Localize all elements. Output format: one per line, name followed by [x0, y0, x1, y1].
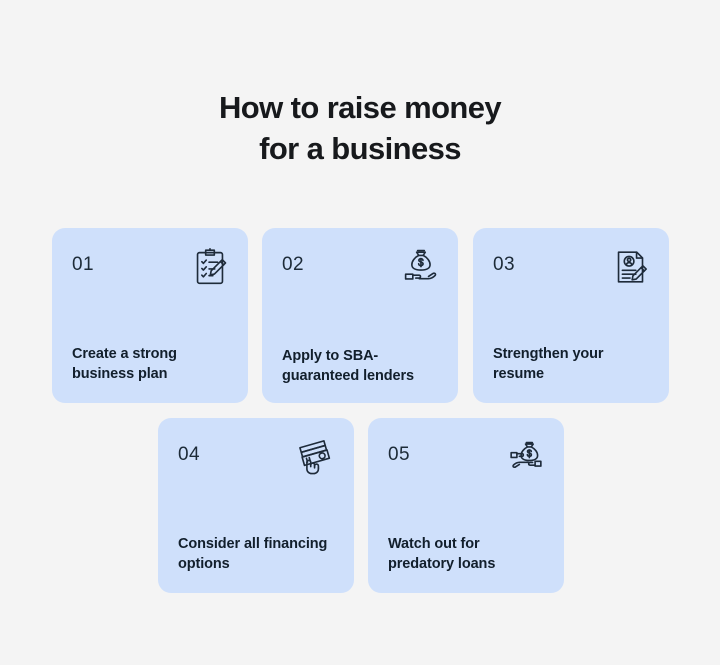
step-card-02[interactable]: 02 Apply to SBA-guaranteed lenders: [262, 228, 458, 403]
step-number-03: 03: [493, 254, 515, 276]
step-label-03: Strengthen your resume: [493, 344, 653, 385]
step-card-03[interactable]: 03 Strengthen your resume: [473, 228, 669, 403]
resume-document-pencil-icon: [608, 244, 654, 290]
step-card-05[interactable]: 05 Watch out for predatory loans: [368, 418, 564, 593]
money-bag-exchange-hands-icon: [503, 434, 549, 480]
hand-holding-cash-icon: [293, 434, 339, 480]
step-number-02: 02: [282, 254, 304, 276]
page-title-line-2: for a business: [0, 129, 720, 170]
step-label-04: Consider all financing options: [178, 534, 338, 575]
step-label-01: Create a strong business plan: [72, 344, 232, 385]
page-title: How to raise money for a business: [0, 88, 720, 170]
clipboard-checklist-pencil-icon: [187, 244, 233, 290]
step-card-04[interactable]: 04 Consider all financing options: [158, 418, 354, 593]
step-label-02: Apply to SBA-guaranteed lenders: [282, 346, 442, 387]
step-card-01[interactable]: 01 Create a strong business plan: [52, 228, 248, 403]
page-title-line-1: How to raise money: [0, 88, 720, 129]
step-label-05: Watch out for predatory loans: [388, 534, 548, 575]
infographic-canvas: How to raise money for a business 01 Cre…: [0, 0, 720, 665]
money-bag-on-hand-icon: [397, 244, 443, 290]
step-number-04: 04: [178, 444, 200, 466]
step-number-01: 01: [72, 254, 94, 276]
step-number-05: 05: [388, 444, 410, 466]
